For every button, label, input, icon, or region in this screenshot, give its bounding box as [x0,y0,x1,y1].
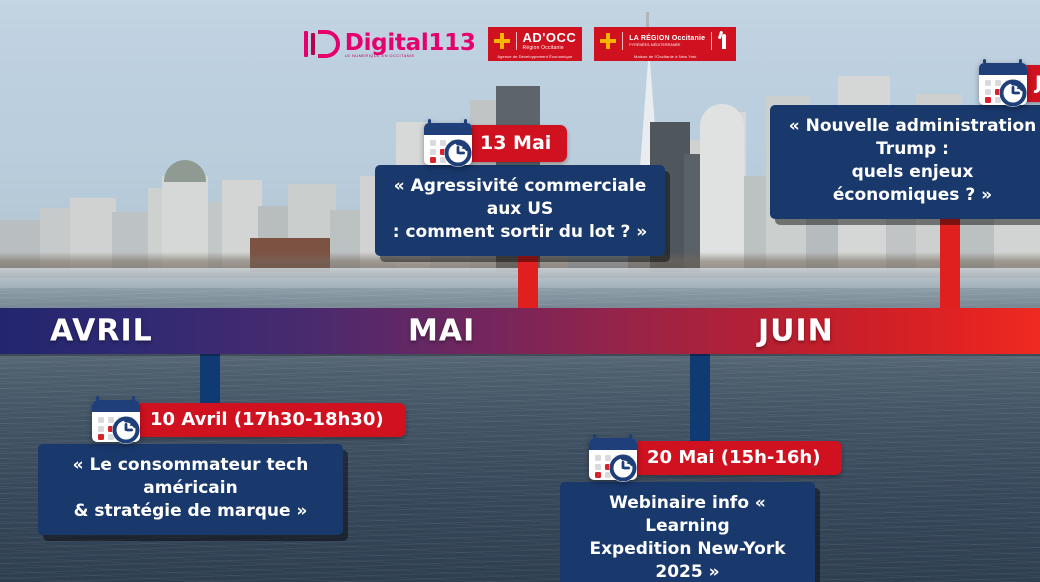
event-card-mai-20[interactable]: 20 Mai (15h-16h) Webinaire info « Learni… [560,430,842,582]
logo-maison-occitanie: LA RÉGION Occitanie PYRÉNÉES MÉDITERRANÉ… [594,27,736,61]
occitanie-subtitle: PYRÉNÉES MÉDITERRANÉE [629,43,705,47]
statue-of-liberty-icon [718,31,730,51]
event-title-juin: « Nouvelle administration Trump : quels … [770,105,1040,219]
calendar-clock-icon [88,392,144,448]
calendar-clock-icon [585,430,641,486]
poster-stage: Digital113 LE NUMERIQUE EN OCCITANIE AD'… [0,0,1040,582]
event-date-avril-10: 10 Avril (17h30-18h30) [126,403,406,437]
event-date-mai-20: 20 Mai (15h-16h) [623,441,842,475]
logo-digital113: Digital113 LE NUMERIQUE EN OCCITANIE [304,30,476,58]
event-title-mai-13: « Agressivité commerciale aux US : comme… [375,165,665,256]
logo-divider [516,32,517,50]
logo-divider-2 [622,32,623,50]
event-title-mai-20: Webinaire info « Learning Expedition New… [560,482,815,582]
event-card-avril-10[interactable]: 10 Avril (17h30-18h30) « Le consommateur… [38,392,406,535]
occitanie-title: LA RÉGION Occitanie [629,35,705,43]
occitan-cross-icon-2 [600,33,616,49]
logo-bar: Digital113 LE NUMERIQUE EN OCCITANIE AD'… [0,20,1040,68]
timeline-bar: AVRIL MAI JUIN [0,308,1040,354]
digital113-mark-icon [304,30,340,58]
event-title-avril-10: « Le consommateur tech américain & strat… [38,444,343,535]
adocc-subtitle: Région Occitanie [523,45,577,52]
adocc-footer: Agence de Développement Économique [497,54,572,59]
maison-occitanie-footer: Maison de l'Occitanie à New York [634,54,696,59]
timeline-month-juin: JUIN [758,314,834,349]
adocc-title: AD'OCC [523,31,577,44]
calendar-clock-icon [420,115,476,171]
timeline-month-mai: MAI [408,314,475,349]
event-card-juin[interactable]: Juin « Nouvelle administration Trump : q… [770,55,1040,219]
event-card-mai-13[interactable]: 13 Mai « Agressivité commerciale aux US … [375,115,665,256]
logo-divider-3 [711,32,712,50]
logo-adocc: AD'OCC Région Occitanie Agence de Dévelo… [488,27,583,62]
occitan-cross-icon [494,33,510,49]
timeline-month-avril: AVRIL [50,314,153,349]
